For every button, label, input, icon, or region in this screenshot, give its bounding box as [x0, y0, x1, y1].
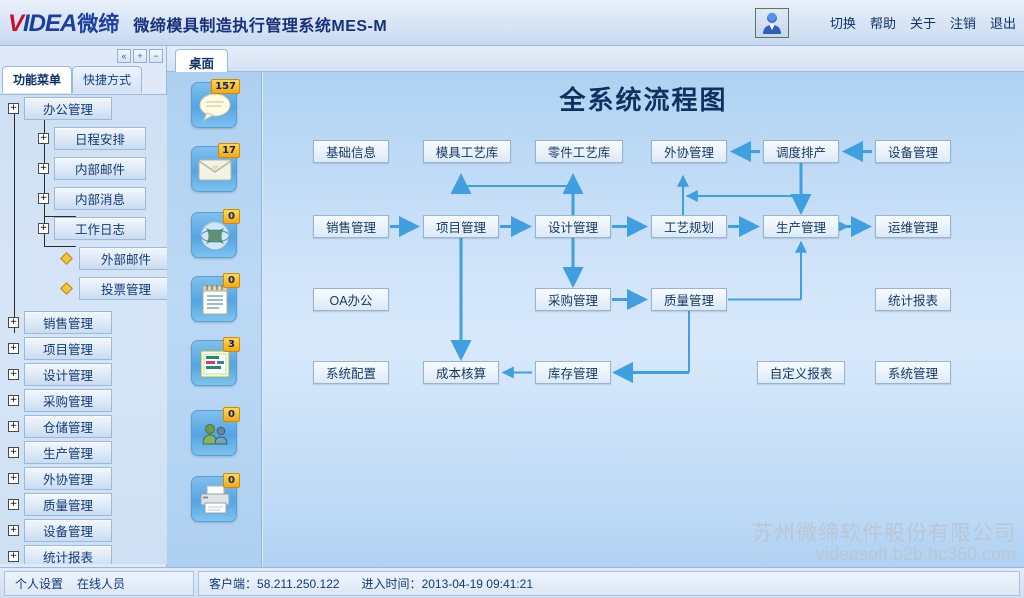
header-menu: 切换 帮助 关于 注销 退出	[830, 13, 1016, 32]
mail-icon[interactable]: 17	[191, 146, 237, 192]
tree-node[interactable]: +质量管理	[8, 495, 112, 513]
notification-badge: 0	[223, 473, 240, 488]
tree-node-label[interactable]: 采购管理	[24, 389, 112, 412]
tree-node-label[interactable]: 外部邮件	[79, 247, 167, 270]
documents-icon[interactable]: 0	[191, 476, 237, 522]
tree-leaf-line-2	[44, 246, 76, 247]
application-window: VIDEA微缔 微缔模具制造执行管理系统MES-M 切换 帮助 关于 注销 退出…	[0, 0, 1024, 598]
tree-node[interactable]: +设备管理	[8, 521, 112, 539]
enter-time-value: 2013-04-19 09:41:21	[422, 577, 533, 591]
tree-node[interactable]: +采购管理	[8, 391, 112, 409]
tab-shortcuts[interactable]: 快捷方式	[72, 66, 142, 93]
expand-all-button[interactable]: +	[133, 49, 147, 63]
tree-node-label[interactable]: 设备管理	[24, 519, 112, 542]
tree-leaf-diamond-icon[interactable]	[60, 252, 73, 265]
flowchart-node[interactable]: 零件工艺库	[535, 140, 623, 163]
flowchart-node[interactable]: OA办公	[313, 288, 389, 311]
status-bar: 个人设置 在线人员 客户端：58.211.250.122 进入时间：2013-0…	[0, 567, 1024, 598]
sidebar-tree: +办公管理+日程安排+内部邮件+内部消息+工作日志外部邮件投票管理+销售管理+项…	[0, 94, 167, 564]
tree-node[interactable]: +生产管理	[8, 443, 112, 461]
tree-node[interactable]: +办公管理	[8, 99, 112, 117]
notification-badge: 0	[223, 209, 240, 224]
online-users-link[interactable]: 在线人员	[77, 575, 125, 592]
browser-icon[interactable]: 0	[191, 212, 237, 258]
client-ip: 58.211.250.122	[257, 577, 340, 591]
logo-idea-text: IDEA	[23, 10, 76, 37]
flowchart-node[interactable]: 系统管理	[875, 361, 951, 384]
tree-node[interactable]: +内部邮件	[38, 159, 146, 177]
avatar[interactable]	[755, 8, 789, 38]
flowchart-node[interactable]: 工艺规划	[651, 215, 727, 238]
enter-time-label: 进入时间：	[362, 577, 422, 591]
client-label: 客户端：	[209, 577, 257, 591]
main-area: 桌面 1571700300 全系统流程图	[167, 46, 1024, 567]
tree-node-label[interactable]: 外协管理	[24, 467, 112, 490]
status-left-group: 个人设置 在线人员	[4, 571, 194, 596]
enter-time-info: 进入时间：2013-04-19 09:41:21	[362, 575, 533, 592]
brand-logo: VIDEA微缔 微缔模具制造执行管理系统MES-M	[8, 8, 387, 38]
user-avatar-icon	[760, 11, 784, 35]
logo-v-letter: V	[8, 10, 23, 37]
status-right-group: 客户端：58.211.250.122 进入时间：2013-04-19 09:41…	[198, 571, 1020, 596]
flowchart-node[interactable]: 自定义报表	[757, 361, 845, 384]
page-title: 微缔模具制造执行管理系统MES-M	[133, 12, 387, 36]
tree-expand-icon[interactable]: +	[38, 133, 49, 144]
personal-settings-link[interactable]: 个人设置	[15, 575, 63, 592]
sidebar: « + − 功能菜单 快捷方式 +办公管理+日程安排+内部邮件+内部消息+工作日…	[0, 46, 167, 567]
flowchart-node[interactable]: 项目管理	[423, 215, 499, 238]
tree-node[interactable]: +统计报表	[8, 547, 112, 564]
notes-icon[interactable]: 0	[191, 276, 237, 322]
header-menu-help[interactable]: 帮助	[870, 13, 896, 32]
flowchart-canvas: 全系统流程图	[263, 72, 1024, 567]
tree-node[interactable]: +设计管理	[8, 365, 112, 383]
flowchart-node[interactable]: 模具工艺库	[423, 140, 511, 163]
tree-expand-icon[interactable]: +	[8, 525, 19, 536]
tree-node-label[interactable]: 仓储管理	[24, 415, 112, 438]
tree-trunk-line	[14, 103, 15, 333]
notification-badge: 17	[218, 143, 240, 158]
flowchart-node[interactable]: 基础信息	[313, 140, 389, 163]
tree-node-label[interactable]: 质量管理	[24, 493, 112, 516]
tree-node-label[interactable]: 项目管理	[24, 337, 112, 360]
app-header: VIDEA微缔 微缔模具制造执行管理系统MES-M 切换 帮助 关于 注销 退出	[0, 0, 1024, 46]
flowchart-node[interactable]: 销售管理	[313, 215, 389, 238]
flowchart-node[interactable]: 设计管理	[535, 215, 611, 238]
desktop-icon-column: 1571700300	[167, 72, 262, 567]
tree-node[interactable]: +日程安排	[38, 129, 146, 147]
tree-expand-icon[interactable]: +	[8, 317, 19, 328]
tree-expand-icon[interactable]: +	[8, 551, 19, 562]
notification-badge: 0	[223, 407, 240, 422]
flowchart-node[interactable]: 运维管理	[875, 215, 951, 238]
header-menu-about[interactable]: 关于	[910, 13, 936, 32]
notification-badge: 157	[211, 79, 240, 94]
tree-node[interactable]: +销售管理	[8, 313, 112, 331]
tree-node-label[interactable]: 日程安排	[54, 127, 146, 150]
tree-node-label[interactable]: 投票管理	[79, 277, 167, 300]
tree-node-label[interactable]: 设计管理	[24, 363, 112, 386]
tree-expand-icon[interactable]: +	[8, 421, 19, 432]
flowchart-node[interactable]: 生产管理	[763, 215, 839, 238]
tree-node[interactable]: 外部邮件	[62, 249, 167, 267]
tree-expand-icon[interactable]: +	[38, 163, 49, 174]
flowchart-node[interactable]: 成本核算	[423, 361, 499, 384]
header-menu-exit[interactable]: 退出	[990, 13, 1016, 32]
collapse-button[interactable]: «	[117, 49, 131, 63]
logo-text: VIDEA微缔	[8, 8, 119, 38]
flowchart-node[interactable]: 统计报表	[875, 288, 951, 311]
tree-node[interactable]: +仓储管理	[8, 417, 112, 435]
contacts-icon[interactable]: 0	[191, 410, 237, 456]
flowchart-node[interactable]: 外协管理	[651, 140, 727, 163]
tree-leaf-diamond-icon[interactable]	[60, 282, 73, 295]
tree-node[interactable]: +工作日志	[38, 219, 146, 237]
flowchart-node[interactable]: 库存管理	[535, 361, 611, 384]
flowchart-node[interactable]: 系统配置	[313, 361, 389, 384]
messages-icon[interactable]: 157	[191, 82, 237, 128]
tree-node[interactable]: 投票管理	[62, 279, 167, 297]
flowchart-node[interactable]: 设备管理	[875, 140, 951, 163]
client-info: 客户端：58.211.250.122	[209, 575, 340, 592]
tree-expand-icon[interactable]: +	[38, 193, 49, 204]
tree-node-label[interactable]: 销售管理	[24, 311, 112, 334]
flowchart-node[interactable]: 质量管理	[651, 288, 727, 311]
tree-node[interactable]: +外协管理	[8, 469, 112, 487]
tree-node-label[interactable]: 内部邮件	[54, 157, 146, 180]
tab-function-menu[interactable]: 功能菜单	[2, 66, 72, 93]
tree-expand-icon[interactable]: +	[8, 473, 19, 484]
tree-expand-icon[interactable]: +	[38, 223, 49, 234]
sidebar-tabs: 功能菜单 快捷方式	[2, 66, 142, 93]
collapse-all-button[interactable]: −	[149, 49, 163, 63]
tree-node-label[interactable]: 内部消息	[54, 187, 146, 210]
main-tabbar: 桌面	[167, 46, 1024, 72]
tree-node[interactable]: +内部消息	[38, 189, 146, 207]
tree-node-label[interactable]: 生产管理	[24, 441, 112, 464]
tree-expand-icon[interactable]: +	[8, 103, 19, 114]
tree-node-label[interactable]: 统计报表	[24, 545, 112, 565]
tree-node-label[interactable]: 工作日志	[54, 217, 146, 240]
sidebar-controls: « + −	[117, 49, 163, 63]
logo-chinese-text: 微缔	[77, 13, 119, 36]
tree-expand-icon[interactable]: +	[8, 499, 19, 510]
tree-expand-icon[interactable]: +	[8, 447, 19, 458]
notification-badge: 0	[223, 273, 240, 288]
tree-expand-icon[interactable]: +	[8, 369, 19, 380]
tree-node-label[interactable]: 办公管理	[24, 97, 112, 120]
tree-expand-icon[interactable]: +	[8, 343, 19, 354]
flowchart-node[interactable]: 调度排产	[763, 140, 839, 163]
schedule-icon[interactable]: 3	[191, 340, 237, 386]
header-menu-switch[interactable]: 切换	[830, 13, 856, 32]
header-menu-logout[interactable]: 注销	[950, 13, 976, 32]
tree-expand-icon[interactable]: +	[8, 395, 19, 406]
notification-badge: 3	[223, 337, 240, 352]
tree-node[interactable]: +项目管理	[8, 339, 112, 357]
flowchart-node[interactable]: 采购管理	[535, 288, 611, 311]
